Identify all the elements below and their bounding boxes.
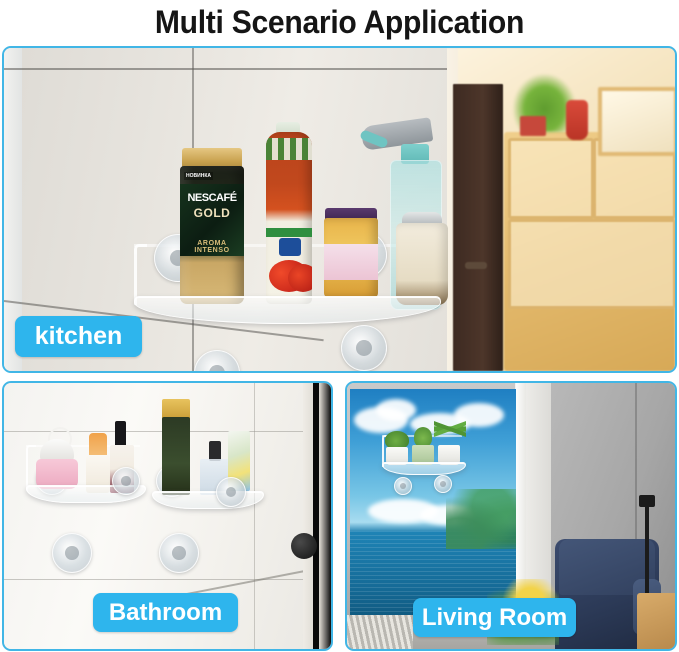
tile-grout-line-top bbox=[4, 68, 447, 70]
dark-door bbox=[453, 84, 504, 371]
cabinet-shelf-3 bbox=[508, 219, 676, 309]
aloe-plant bbox=[434, 411, 466, 447]
perfume-cap bbox=[115, 421, 126, 447]
door-knob-icon bbox=[291, 533, 317, 559]
framed-picture bbox=[598, 87, 677, 156]
door-handle-icon bbox=[465, 262, 487, 269]
pink-jar-cap bbox=[40, 439, 74, 461]
suction-cup bbox=[341, 325, 387, 371]
tile-grout-line-vertical bbox=[254, 383, 255, 649]
nescafe-variant: GOLD bbox=[180, 206, 244, 220]
ketchup-neck-band bbox=[266, 138, 312, 160]
palm-tree bbox=[446, 489, 516, 549]
door-gap bbox=[313, 383, 319, 649]
suction-cup bbox=[112, 467, 140, 495]
wooden-furniture bbox=[637, 593, 675, 649]
plant-pot bbox=[520, 116, 546, 136]
cloud bbox=[376, 399, 416, 421]
preserves-label bbox=[324, 244, 378, 280]
nescafe-subtitle: AROMA INTENSO bbox=[180, 240, 244, 254]
scenario-label-living-room: Living Room bbox=[413, 598, 576, 637]
cabinet-shelf-1 bbox=[508, 138, 594, 218]
acrylic-shelf-bathroom-right bbox=[152, 491, 264, 509]
ketchup-logo bbox=[279, 238, 301, 256]
tomato-graphic bbox=[288, 264, 312, 292]
product-ketchup-bottle bbox=[266, 132, 312, 304]
product-cream-jar bbox=[396, 223, 448, 305]
suction-cup bbox=[52, 533, 92, 573]
ketchup-green-band bbox=[266, 228, 312, 237]
glass-perfume-cap bbox=[209, 441, 221, 461]
rug bbox=[347, 615, 413, 649]
nescafe-brand: NESCAFÉ bbox=[180, 192, 244, 204]
nescafe-new-flag: НОВИНКА bbox=[184, 172, 213, 180]
product-green-spray-bottle bbox=[162, 417, 190, 495]
product-infographic: Multi Scenario Application bbox=[0, 0, 679, 652]
suction-cup bbox=[394, 477, 412, 495]
product-preserves-jar bbox=[324, 218, 378, 298]
page-title: Multi Scenario Application bbox=[20, 0, 658, 44]
scenario-label-kitchen: kitchen bbox=[15, 316, 142, 357]
product-nescafe-gold-jar: НОВИНКА NESCAFÉ GOLD AROMA INTENSO bbox=[180, 166, 244, 304]
suction-cup bbox=[159, 533, 199, 573]
red-vase bbox=[566, 100, 588, 140]
acrylic-shelf-living-room bbox=[382, 462, 466, 475]
kitchen-background-room bbox=[433, 48, 675, 371]
suction-cup bbox=[434, 475, 452, 493]
scenario-label-bathroom: Bathroom bbox=[93, 593, 238, 632]
cactus-plant bbox=[414, 427, 432, 447]
tile-grout-line-middle bbox=[4, 579, 331, 580]
suction-cup bbox=[216, 477, 246, 507]
